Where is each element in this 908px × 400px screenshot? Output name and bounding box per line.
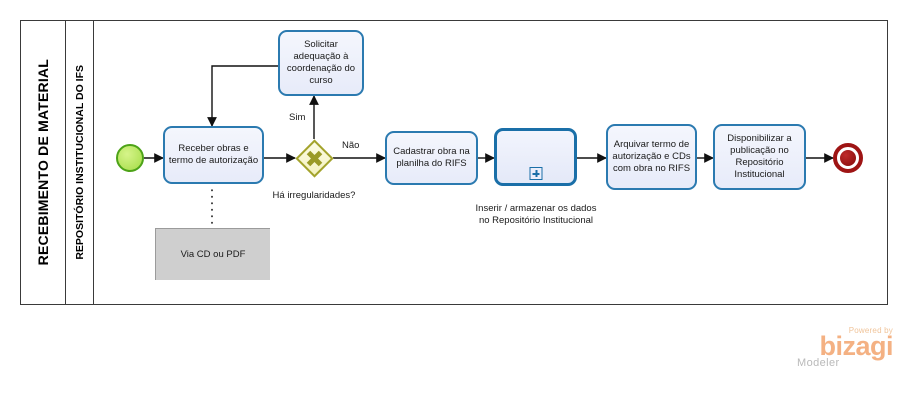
pool-header: RECEBIMENTO DE MATERIAL (21, 21, 66, 304)
task-disponibilizar-publicacao[interactable]: Disponibilizar a publicação no Repositór… (713, 124, 806, 190)
pool-title: RECEBIMENTO DE MATERIAL (35, 59, 51, 265)
data-annotation-via-cd-ou-pdf[interactable]: Via CD ou PDF (155, 228, 270, 280)
lane-title: REPOSITÓRIO INSTITUCIONAL DO IFS (74, 65, 86, 260)
lane-header: REPOSITÓRIO INSTITUCIONAL DO IFS (66, 21, 94, 304)
task-solicitar-adequacao[interactable]: Solicitar adequação à coordenação do cur… (278, 30, 364, 96)
gateway-ha-irregularidades[interactable] (295, 139, 333, 177)
end-event[interactable] (833, 143, 863, 173)
task-arquivar-termo[interactable]: Arquivar termo de autorização e CDs com … (606, 124, 697, 190)
exclusive-x-icon (306, 150, 323, 167)
bizagi-logo: Powered by bizagi Modeler (793, 326, 893, 369)
flow-label-nao: Não (342, 140, 359, 151)
gateway-label: Há irregularidades? (258, 190, 370, 202)
bizagi-wordmark: bizagi (793, 333, 893, 359)
task-receber-obras[interactable]: Receber obras e termo de autorização (163, 126, 264, 184)
start-event[interactable] (116, 144, 144, 172)
end-event-inner (840, 150, 856, 166)
task-cadastrar-obra[interactable]: Cadastrar obra na planilha do RIFS (385, 131, 478, 185)
flow-label-sim: Sim (289, 112, 305, 123)
collapsed-subprocess-plus-icon (529, 167, 542, 180)
subprocess-inserir-armazenar[interactable] (494, 128, 577, 186)
subprocess-label: Inserir / armazenar os dados no Repositó… (473, 203, 599, 227)
